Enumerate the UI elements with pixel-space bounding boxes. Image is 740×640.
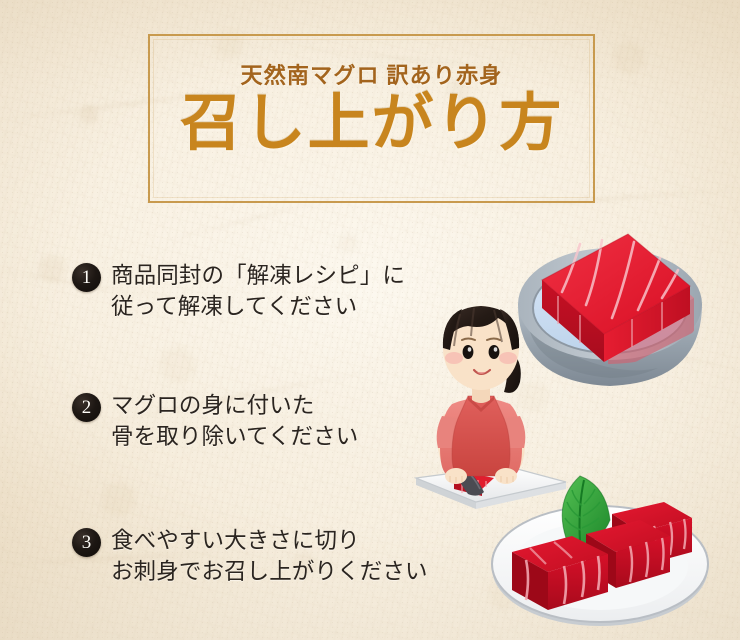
list-item-step-2: 2 マグロの身に付いた 骨を取り除いてください <box>72 390 358 452</box>
step-list: 1 商品同封の「解凍レシピ」に 従って解凍してください 2 マグロの身に付いた … <box>0 0 740 640</box>
step-number-badge-3: 3 <box>72 528 101 557</box>
step-2-line-2: 骨を取り除いてください <box>111 421 358 452</box>
step-text-3: 食べやすい大きさに切り お刺身でお召し上がりください <box>111 525 428 587</box>
step-2-line-1: マグロの身に付いた <box>111 390 358 421</box>
step-text-2: マグロの身に付いた 骨を取り除いてください <box>111 390 358 452</box>
step-3-line-1: 食べやすい大きさに切り <box>111 525 428 556</box>
list-item-step-1: 1 商品同封の「解凍レシピ」に 従って解凍してください <box>72 260 405 322</box>
step-text-1: 商品同封の「解凍レシピ」に 従って解凍してください <box>111 260 405 322</box>
poster-canvas: 天然南マグロ 訳あり赤身 召し上がり方 1 商品同封の「解凍レシピ」に 従って解… <box>0 0 740 640</box>
step-number-badge-2: 2 <box>72 393 101 422</box>
step-1-line-1: 商品同封の「解凍レシピ」に <box>111 260 405 291</box>
step-1-line-2: 従って解凍してください <box>111 291 405 322</box>
step-number-badge-1: 1 <box>72 263 101 292</box>
list-item-step-3: 3 食べやすい大きさに切り お刺身でお召し上がりください <box>72 525 428 587</box>
step-3-line-2: お刺身でお召し上がりください <box>111 556 428 587</box>
